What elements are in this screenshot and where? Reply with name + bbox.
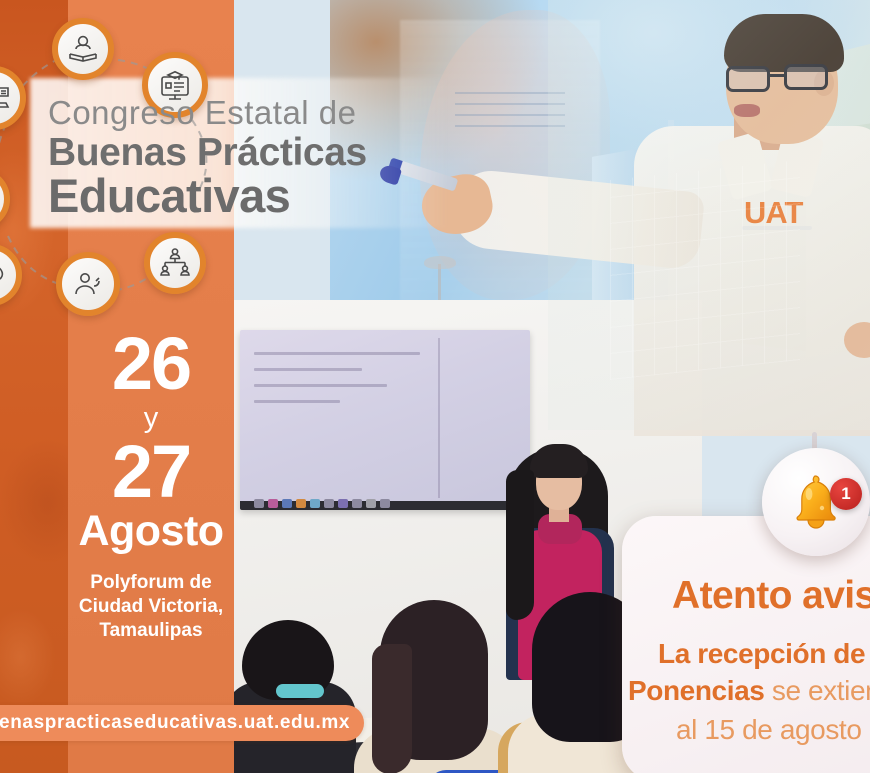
notice-card: Atento aviso La recepción de Ponencias s… xyxy=(622,516,870,773)
woman-hair-side xyxy=(506,470,534,620)
screen-toolbar-icons xyxy=(254,498,504,509)
notice-line-2-rest: se extiende xyxy=(764,675,870,706)
poster-headline: Congreso Estatal de Buenas Prácticas Edu… xyxy=(48,96,528,219)
person-reading-book-icon xyxy=(52,18,114,80)
notice-line-2: Ponencias se extiende xyxy=(628,675,870,707)
man-eyeglass-bridge xyxy=(768,74,786,77)
woman-hair-front xyxy=(530,444,588,478)
man-hair xyxy=(724,14,844,72)
headline-line-1: Congreso Estatal de xyxy=(48,96,528,131)
slide-text-lines xyxy=(254,352,434,416)
venue-line-3: Tamaulipas xyxy=(70,619,232,643)
uat-logo-underline xyxy=(742,226,812,230)
notice-line-3: al 15 de agosto xyxy=(676,714,862,746)
notice-title: Atento aviso xyxy=(672,574,870,618)
event-day-second: 27 xyxy=(68,438,234,506)
notice-line-1: La recepción de xyxy=(658,638,865,670)
notice-line-2-bold: Ponencias xyxy=(628,675,764,706)
event-venue: Polyforum de Ciudad Victoria, Tamaulipas xyxy=(68,571,234,643)
venue-line-1: Polyforum de xyxy=(70,571,232,595)
person-raising-hand-icon xyxy=(56,252,120,316)
congress-poster: UAT xyxy=(0,0,870,773)
man-eyeglass-left xyxy=(726,66,770,92)
projection-screen xyxy=(240,330,530,510)
presenter-man: UAT xyxy=(548,0,870,430)
venue-line-2: Ciudad Victoria, xyxy=(70,595,232,619)
notification-count-badge: 1 xyxy=(830,478,862,510)
event-date-block: 26 y 27 Agosto Polyforum de Ciudad Victo… xyxy=(68,330,234,643)
headline-line-3: Educativas xyxy=(48,172,528,219)
website-url-text: //buenaspracticaseducativas.uat.edu.mx xyxy=(0,712,350,734)
headline-line-2: Buenas Prácticas xyxy=(48,133,528,174)
man-eyeglass-right xyxy=(784,64,828,90)
website-url-pill[interactable]: //buenaspracticaseducativas.uat.edu.mx xyxy=(0,705,364,741)
team-hierarchy-icon xyxy=(144,232,206,294)
slide-divider xyxy=(438,338,440,498)
man-mouth xyxy=(734,104,760,117)
event-month: Agosto xyxy=(68,510,234,553)
event-day-first: 26 xyxy=(68,330,234,398)
